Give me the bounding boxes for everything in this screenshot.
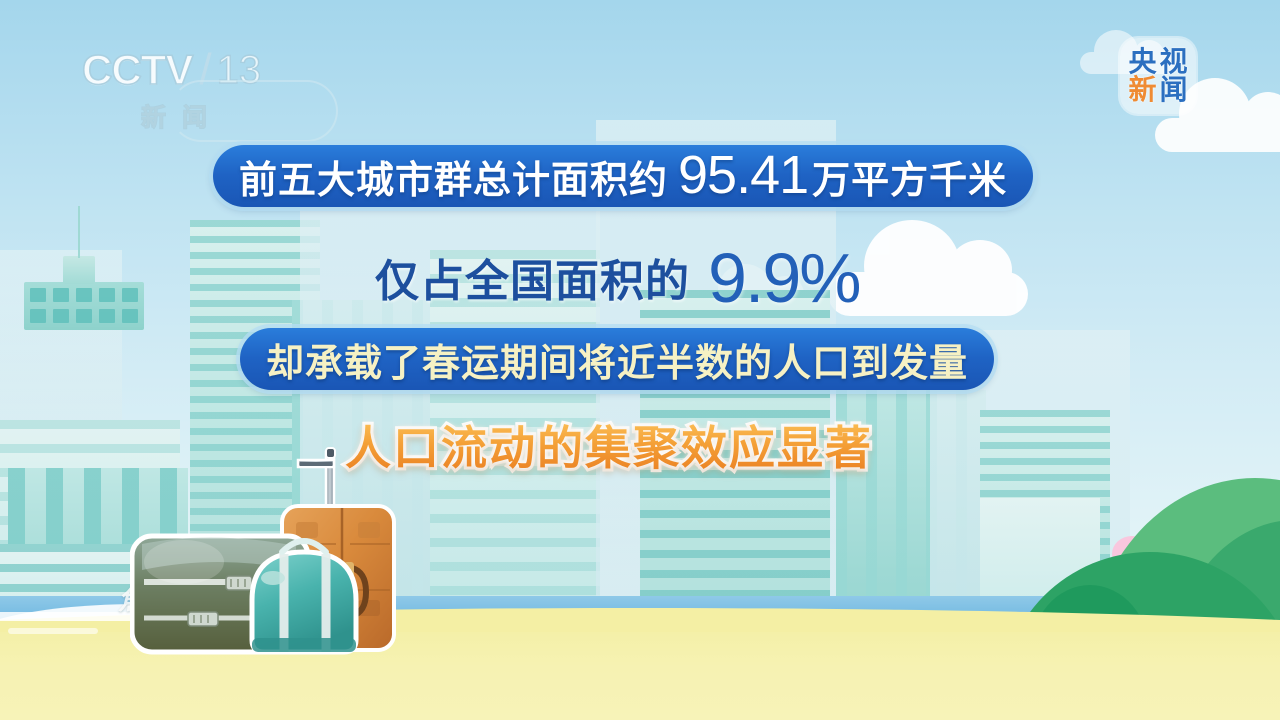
headline2-prefix: 仅占全国面积的 (375, 245, 690, 309)
headline-line2: 仅占全国面积的 9.9% (375, 232, 860, 312)
headline1-prefix: 前五大城市群总计面积约 (239, 149, 668, 204)
headline3-text: 却承载了春运期间将近半数的人口到发量 (266, 332, 968, 387)
headline1-number: 95.41 (678, 144, 808, 206)
headline4-text: 人口流动的集聚效应显著 (345, 421, 873, 475)
headline-banner-line1: 前五大城市群总计面积约 95.41 万平方千米 (213, 145, 1033, 207)
headline-banner-line3: 却承载了春运期间将近半数的人口到发量 (240, 328, 994, 390)
headline-line4: 人口流动的集聚效应显著 人口流动的集聚效应显著 (345, 412, 873, 478)
headline1-suffix: 万平方千米 (812, 149, 1007, 204)
headline2-percent: 9.9% (708, 238, 860, 318)
headline-group: 前五大城市群总计面积约 95.41 万平方千米 仅占全国面积的 9.9% 却承载… (0, 0, 1280, 720)
broadcast-frame: 焦点访谈 CCTV / 13 新闻 央 视 新 闻 前五大城市群总计面积约 95… (0, 0, 1280, 720)
